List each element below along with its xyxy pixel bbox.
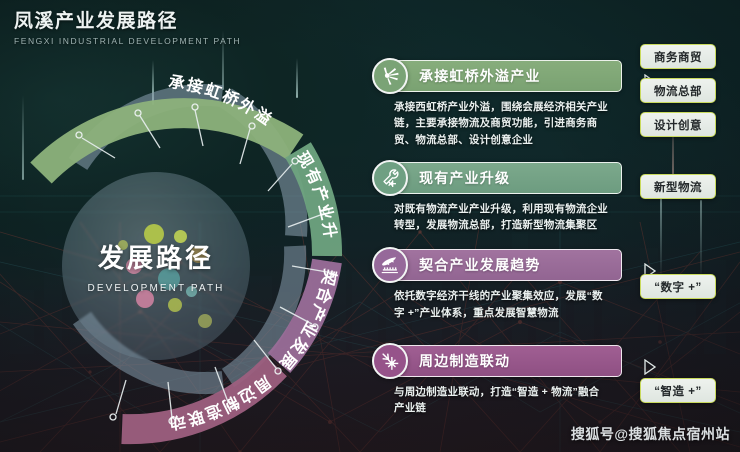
- card-item[interactable]: 契合产业发展趋势 依托数字经济干线的产业聚集效应，发展“数字 +”产业体系，重点…: [372, 247, 622, 321]
- light-streak: [700, 200, 702, 280]
- card-header-row[interactable]: 周边制造联动: [372, 343, 622, 379]
- wrench-icon-glyph: [379, 167, 401, 189]
- card-title-pill[interactable]: 周边制造联动: [390, 345, 622, 377]
- tag-item[interactable]: “数字 +”: [640, 274, 716, 299]
- card-title-pill[interactable]: 现有产业升级: [390, 162, 622, 194]
- cards-column: 承接虹桥外溢产业 承接西虹桥产业外溢，围绕会展经济相关产业链，主要承接物流及商贸…: [372, 58, 622, 422]
- chevron-right-icon[interactable]: [633, 351, 644, 367]
- card-title: 承接虹桥外溢产业: [419, 66, 541, 86]
- tag-label: 设计创意: [654, 117, 702, 133]
- card-title: 契合产业发展趋势: [419, 255, 541, 275]
- card-title-pill[interactable]: 契合产业发展趋势: [390, 249, 622, 281]
- card-description: 与周边制造业联动，打造“智造 + 物流”融合产业链: [394, 384, 610, 417]
- center-title-cn: 发展路径: [98, 238, 214, 275]
- page-header: 凤溪产业发展路径 FENGXI INDUSTRIAL DEVELOPMENT P…: [14, 6, 241, 46]
- tag-item[interactable]: 商务商贸: [640, 44, 716, 69]
- card-title-pill[interactable]: 承接虹桥外溢产业: [390, 60, 622, 92]
- card-header-row[interactable]: 契合产业发展趋势: [372, 247, 622, 283]
- tag-item[interactable]: 物流总部: [640, 78, 716, 103]
- watermark: 搜狐号@搜狐焦点宿州站: [571, 424, 730, 444]
- tag-label: 物流总部: [654, 83, 702, 99]
- infographic-canvas: 凤溪产业发展路径 FENGXI INDUSTRIAL DEVELOPMENT P…: [0, 0, 740, 452]
- card-description: 对既有物流产业产业升级，利用现有物流企业转型，发展物流总部，打造新型物流集聚区: [394, 201, 610, 234]
- center-title-en: DEVELOPMENT PATH: [88, 283, 225, 294]
- card-header-row[interactable]: 现有产业升级: [372, 160, 622, 196]
- center-circle-text: 发展路径 DEVELOPMENT PATH: [62, 172, 250, 360]
- card-title: 周边制造联动: [419, 351, 510, 371]
- tag-item[interactable]: 设计创意: [640, 112, 716, 137]
- tag-item[interactable]: “智造 +”: [640, 378, 716, 403]
- card-description: 承接西虹桥产业外溢，围绕会展经济相关产业链，主要承接物流及商贸功能，引进商务商贸…: [394, 99, 610, 148]
- wrench-icon: [372, 160, 408, 196]
- tag-label: “数字 +”: [654, 279, 701, 295]
- card-item[interactable]: 现有产业升级 对既有物流产业产业升级，利用现有物流企业转型，发展物流总部，打造新…: [372, 160, 622, 234]
- burst-icon: [372, 58, 408, 94]
- target-arrow-icon-glyph: [379, 350, 401, 372]
- card-item[interactable]: 承接虹桥外溢产业 承接西虹桥产业外溢，围绕会展经济相关产业链，主要承接物流及商贸…: [372, 58, 622, 148]
- tag-label: 商务商贸: [654, 49, 702, 65]
- card-title: 现有产业升级: [419, 168, 510, 188]
- rocket-icon-glyph: [379, 254, 401, 276]
- card-header-row[interactable]: 承接虹桥外溢产业: [372, 58, 622, 94]
- tag-label: “智造 +”: [654, 383, 701, 399]
- light-streak: [660, 190, 662, 280]
- tag-label: 新型物流: [654, 179, 702, 195]
- card-item[interactable]: 周边制造联动 与周边制造业联动，打造“智造 + 物流”融合产业链: [372, 343, 622, 417]
- tag-item[interactable]: 新型物流: [640, 174, 716, 199]
- card-description: 依托数字经济干线的产业聚集效应，发展“数字 +”产业体系，重点发展智慧物流: [394, 288, 610, 321]
- page-title-cn: 凤溪产业发展路径: [14, 6, 241, 33]
- burst-icon-glyph: [379, 65, 401, 87]
- target-arrow-icon: [372, 343, 408, 379]
- page-title-en: FENGXI INDUSTRIAL DEVELOPMENT PATH: [14, 36, 241, 46]
- chevron-right-icon[interactable]: [633, 255, 644, 271]
